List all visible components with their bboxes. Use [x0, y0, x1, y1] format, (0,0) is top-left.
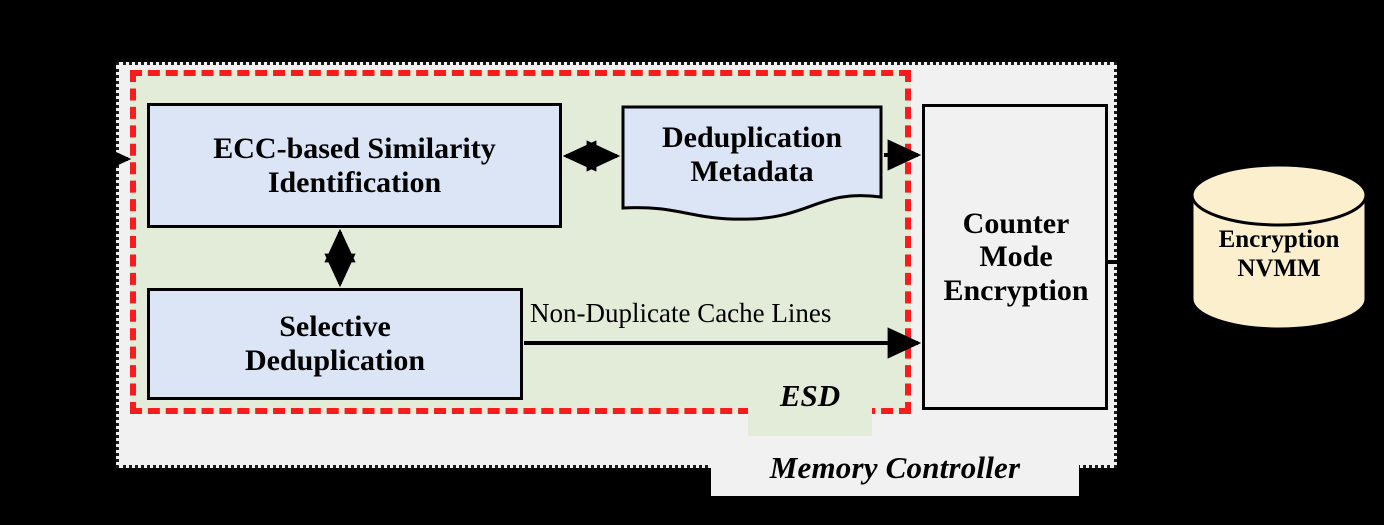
- block-selective-deduplication[interactable]: Selective Deduplication: [147, 288, 523, 400]
- block-nvmm-line2: NVMM: [1237, 255, 1320, 282]
- block-cme-label: Counter Mode Encryption: [943, 207, 1088, 308]
- memory-controller-caption: Memory Controller: [711, 440, 1079, 496]
- block-encryption-nvmm[interactable]: Encryption NVMM: [1189, 162, 1369, 332]
- block-ecc-label: ECC-based Similarity Identification: [213, 132, 496, 199]
- block-metadata-line2: Metadata: [690, 155, 813, 188]
- block-ecc-based-similarity-identification[interactable]: ECC-based Similarity Identification: [147, 103, 562, 228]
- block-cme-line2: Mode: [979, 240, 1052, 273]
- edge-label-non-duplicate-cache-lines: Non-Duplicate Cache Lines: [530, 298, 831, 329]
- block-cme-line1: Counter: [963, 207, 1070, 240]
- block-nvmm-line1: Encryption: [1219, 226, 1340, 253]
- block-cme-line3: Encryption: [943, 274, 1088, 307]
- diagram-canvas: ESD ECC-based Similarity Identification …: [0, 0, 1384, 525]
- block-counter-mode-encryption[interactable]: Counter Mode Encryption: [922, 104, 1108, 410]
- block-metadata-label: Deduplication Metadata: [621, 105, 883, 205]
- block-deduplication-metadata[interactable]: Deduplication Metadata: [621, 105, 883, 225]
- block-nvmm-label: Encryption NVMM: [1189, 200, 1369, 310]
- block-ecc-line1: ECC-based Similarity: [213, 132, 496, 165]
- esd-region-label: ESD: [748, 372, 872, 420]
- block-selective-label: Selective Deduplication: [245, 310, 425, 377]
- block-selective-line1: Selective: [279, 310, 391, 343]
- block-ecc-line2: Identification: [268, 166, 441, 199]
- block-selective-line2: Deduplication: [245, 344, 425, 377]
- block-metadata-line1: Deduplication: [662, 121, 842, 154]
